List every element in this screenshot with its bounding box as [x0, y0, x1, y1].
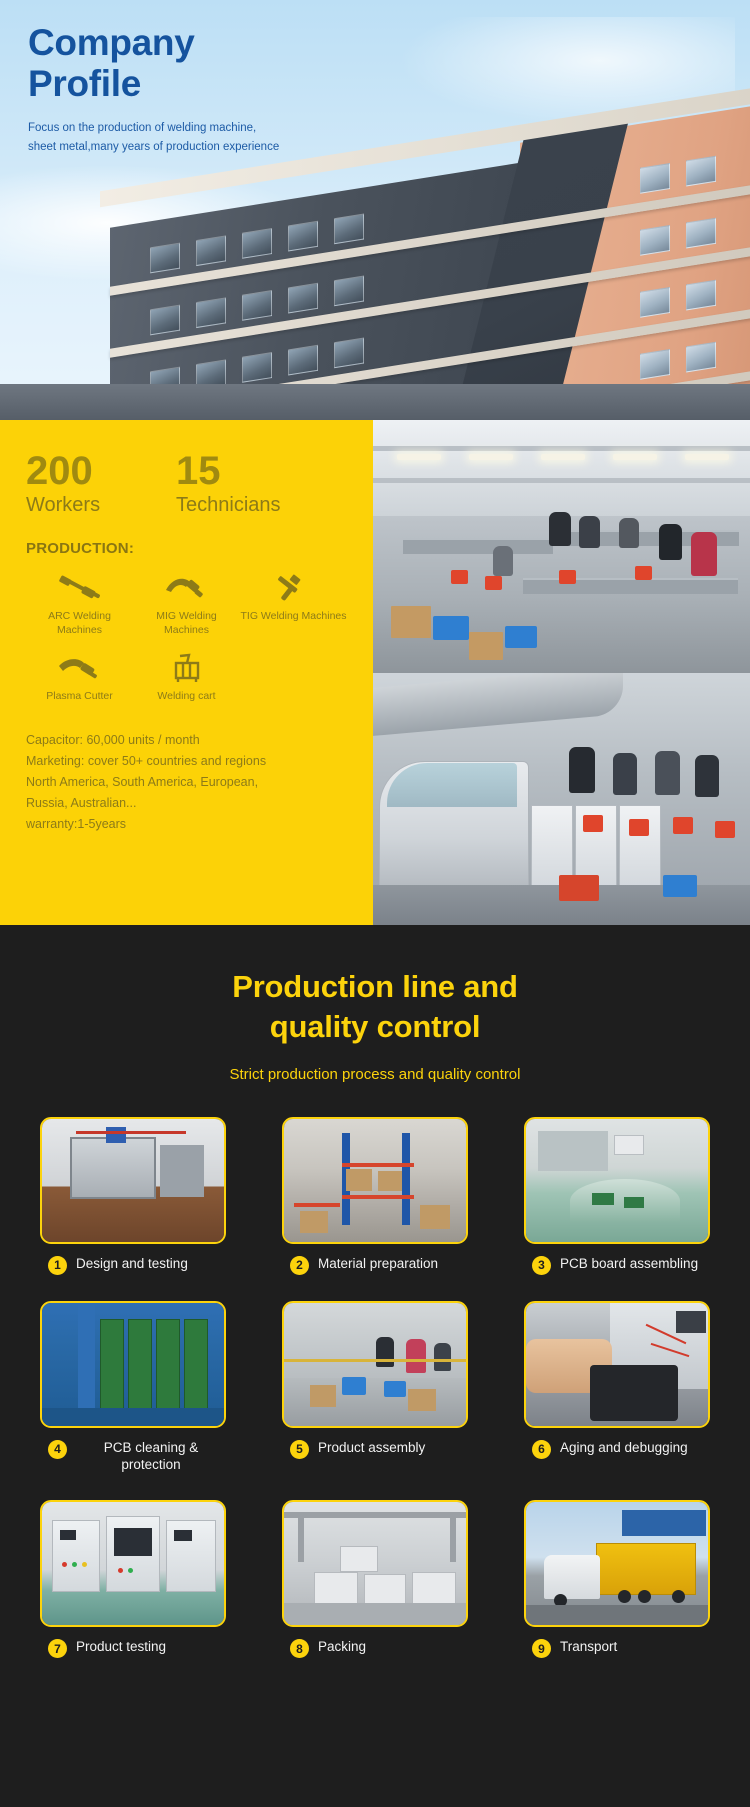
section-title-line1: Production line and	[0, 967, 750, 1007]
tig-welding-torch-icon	[240, 571, 347, 607]
step-number-badge: 2	[290, 1256, 309, 1275]
process-row: 7 Product testing	[40, 1500, 710, 1658]
hero-title-line2: Profile	[28, 63, 279, 104]
detail-line: Marketing: cover 50+ countries and regio…	[26, 751, 347, 772]
stat-workers: 200 Workers	[26, 450, 176, 518]
factory-assembly-line-photo	[373, 420, 750, 673]
process-step-6[interactable]: 6 Aging and debugging	[524, 1301, 710, 1475]
product-label: TIG Welding Machines	[240, 609, 347, 623]
product-label: Welding cart	[133, 689, 240, 703]
step-thumbnail[interactable]	[524, 1301, 710, 1428]
welding-cart-icon	[133, 651, 240, 687]
step-label: PCB cleaning & protection	[76, 1439, 226, 1475]
step-label: PCB board assembling	[560, 1255, 698, 1273]
product-tig-welding: TIG Welding Machines	[240, 571, 347, 637]
detail-line: North America, South America, European,	[26, 772, 347, 793]
stat-label: Technicians	[176, 492, 326, 518]
step-label: Aging and debugging	[560, 1439, 688, 1457]
arc-welding-torch-icon	[26, 571, 133, 607]
step-thumbnail[interactable]	[40, 1500, 226, 1627]
step-label: Design and testing	[76, 1255, 188, 1273]
process-row: 4 PCB cleaning & protection	[40, 1301, 710, 1475]
production-process-section: Production line and quality control Stri…	[0, 925, 750, 1730]
step-thumbnail[interactable]	[40, 1301, 226, 1428]
step-number-badge: 5	[290, 1440, 309, 1459]
process-step-2[interactable]: 2 Material preparation	[282, 1117, 468, 1275]
step-number-badge: 6	[532, 1440, 551, 1459]
step-thumbnail[interactable]	[282, 1301, 468, 1428]
process-step-9[interactable]: 9 Transport	[524, 1500, 710, 1658]
step-thumbnail[interactable]	[282, 1500, 468, 1627]
process-step-1[interactable]: 1 Design and testing	[40, 1117, 226, 1275]
section-title-line2: quality control	[0, 1007, 750, 1047]
section-subtitle: Strict production process and quality co…	[0, 1066, 750, 1083]
production-heading: PRODUCTION:	[26, 540, 347, 557]
plasma-cutter-icon	[26, 651, 133, 687]
step-thumbnail[interactable]	[282, 1117, 468, 1244]
stat-label: Workers	[26, 492, 176, 518]
step-number-badge: 3	[532, 1256, 551, 1275]
step-label: Transport	[560, 1638, 617, 1656]
step-thumbnail[interactable]	[40, 1117, 226, 1244]
step-number-badge: 9	[532, 1639, 551, 1658]
step-thumbnail[interactable]	[524, 1500, 710, 1627]
hero-subtitle-line2: sheet metal,many years of production exp…	[28, 138, 279, 157]
company-details-block: Capacitor: 60,000 units / month Marketin…	[26, 730, 347, 835]
detail-line: Russia, Australian...	[26, 793, 347, 814]
stat-number: 15	[176, 450, 326, 492]
factory-production-workshop-photo	[373, 673, 750, 926]
hero-subtitle-line1: Focus on the production of welding machi…	[28, 119, 279, 138]
process-steps-grid: 1 Design and testing	[0, 1117, 750, 1659]
product-arc-welding: ARC Welding Machines	[26, 571, 133, 637]
step-number-badge: 4	[48, 1440, 67, 1459]
step-number-badge: 1	[48, 1256, 67, 1275]
process-row: 1 Design and testing	[40, 1117, 710, 1275]
product-label: Plasma Cutter	[26, 689, 133, 703]
mig-welding-torch-icon	[133, 571, 240, 607]
step-thumbnail[interactable]	[524, 1117, 710, 1244]
process-step-4[interactable]: 4 PCB cleaning & protection	[40, 1301, 226, 1475]
detail-line: warranty:1-5years	[26, 814, 347, 835]
stat-number: 200	[26, 450, 176, 492]
process-step-3[interactable]: 3 PCB board assembling	[524, 1117, 710, 1275]
step-label: Material preparation	[318, 1255, 438, 1273]
process-step-8[interactable]: 8 Packing	[282, 1500, 468, 1658]
product-plasma-cutter: Plasma Cutter	[26, 651, 133, 703]
company-stats-panel: 200 Workers 15 Technicians PRODUCTION:	[0, 420, 373, 925]
product-label: MIG Welding Machines	[133, 609, 240, 637]
product-welding-cart: Welding cart	[133, 651, 240, 703]
hero-title-line1: Company	[28, 22, 279, 63]
hero-text-block: Company Profile Focus on the production …	[28, 22, 279, 157]
hero-banner: Company Profile Focus on the production …	[0, 0, 750, 420]
product-icon-grid: ARC Welding Machines MIG Welding Machine…	[26, 571, 347, 718]
process-step-7[interactable]: 7 Product testing	[40, 1500, 226, 1658]
process-step-5[interactable]: 5 Product assembly	[282, 1301, 468, 1475]
stat-row: 200 Workers 15 Technicians	[26, 450, 347, 518]
step-label: Product testing	[76, 1638, 166, 1656]
ground-strip	[0, 384, 750, 420]
detail-line: Capacitor: 60,000 units / month	[26, 730, 347, 751]
stats-and-photos-band: 200 Workers 15 Technicians PRODUCTION:	[0, 420, 750, 925]
step-label: Packing	[318, 1638, 366, 1656]
factory-photos-column	[373, 420, 750, 925]
product-icon-row: Plasma Cutter Welding cart	[26, 651, 347, 717]
stat-technicians: 15 Technicians	[176, 450, 326, 518]
product-mig-welding: MIG Welding Machines	[133, 571, 240, 637]
company-profile-page: Company Profile Focus on the production …	[0, 0, 750, 1730]
step-label: Product assembly	[318, 1439, 425, 1457]
product-label: ARC Welding Machines	[26, 609, 133, 637]
step-number-badge: 7	[48, 1639, 67, 1658]
product-icon-row: ARC Welding Machines MIG Welding Machine…	[26, 571, 347, 651]
step-number-badge: 8	[290, 1639, 309, 1658]
